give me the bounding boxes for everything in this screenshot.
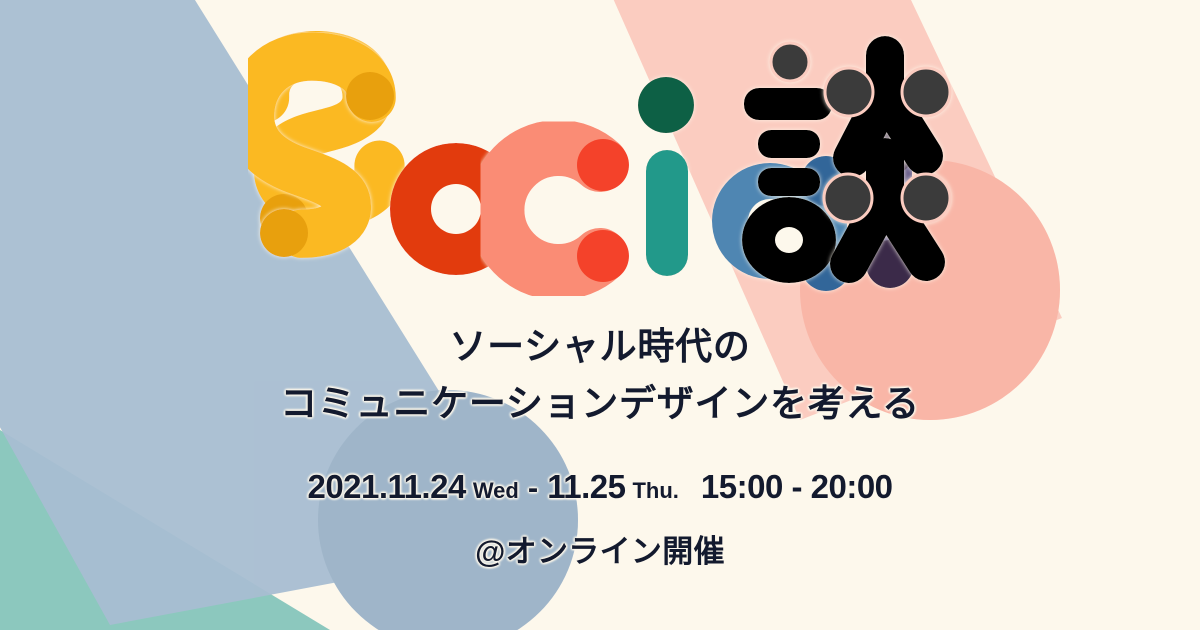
kanji-gon-mouth — [742, 197, 836, 283]
kanji-fire-lower-dot-left — [824, 174, 872, 222]
kanji-fire-upper-dot-right — [902, 68, 950, 116]
kanji-fire-upper-dot-left — [825, 68, 873, 116]
kanji-dan-character — [736, 32, 986, 294]
kanji-gon-bar-1 — [744, 88, 832, 120]
logo-i-dot — [638, 77, 694, 133]
kanji-gon-bar-3 — [758, 168, 820, 196]
kanji-fire-lower-dot-right — [902, 174, 950, 222]
event-poster: ソーシャル時代の コミュニケーションデザインを考える 2021.11.24 We… — [0, 0, 1200, 630]
logo-letter-i — [638, 77, 694, 276]
logo-c-dot-bottom — [577, 230, 629, 282]
logo-letter-c — [496, 139, 629, 282]
logo-i-stem — [646, 150, 688, 276]
kanji-radical-gon — [742, 43, 836, 283]
kanji-component-en — [824, 36, 950, 264]
logo-c-dot-top — [577, 139, 629, 191]
kanji-gon-top-dot — [771, 43, 809, 81]
kanji-gon-bar-2 — [758, 130, 820, 158]
